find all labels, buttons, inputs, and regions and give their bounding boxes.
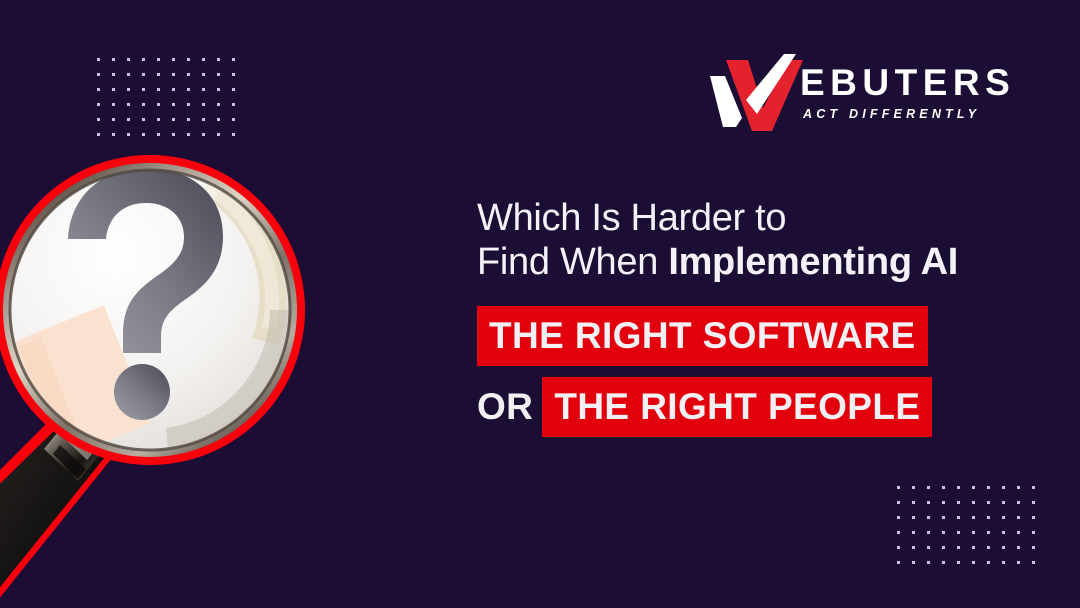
decorative-dot [157,88,160,91]
decorative-dot [912,486,915,489]
decorative-dot [97,133,100,136]
decorative-dot [942,516,945,519]
decorative-dot [972,531,975,534]
decorative-dot [1032,531,1035,534]
decorative-dot [1017,486,1020,489]
headline-line-1: Which Is Harder to [477,196,1037,240]
decorative-dot [112,73,115,76]
decorative-dot [157,73,160,76]
decorative-dot [1002,561,1005,564]
decorative-dot [172,103,175,106]
decorative-dot [1017,501,1020,504]
decorative-dot [957,486,960,489]
decorative-dot [142,133,145,136]
decorative-dot [127,58,130,61]
magnifying-glass-illustration [0,140,460,608]
decorative-dot [202,73,205,76]
decorative-dot [202,133,205,136]
decorative-dot [112,58,115,61]
emphasis-row-1: THE RIGHT SOFTWARE [477,306,1037,366]
decorative-dot [157,103,160,106]
decorative-dot [187,103,190,106]
decorative-dot [942,531,945,534]
emphasis-or-word: OR [477,377,542,437]
decorative-dot [112,103,115,106]
decorative-dot [97,103,100,106]
headline-line-2-bold: Implementing AI [668,241,958,283]
decorative-dot [187,73,190,76]
decorative-dot [987,546,990,549]
decorative-dot [187,88,190,91]
decorative-dot [1017,516,1020,519]
decorative-dot [912,561,915,564]
decorative-dot [897,531,900,534]
decorative-dot [202,103,205,106]
emphasis-pill-software: THE RIGHT SOFTWARE [477,306,928,366]
decorative-dot-grid-bottom-right [897,486,1035,564]
decorative-dot [232,103,235,106]
decorative-dot [157,118,160,121]
decorative-dot [1032,546,1035,549]
logo-tagline: ACT DIFFERENTLY [803,108,1015,121]
decorative-dot [912,516,915,519]
decorative-dot [897,501,900,504]
decorative-dot [202,118,205,121]
decorative-dot [142,73,145,76]
decorative-dot [202,58,205,61]
decorative-dot [112,88,115,91]
decorative-dot [232,58,235,61]
decorative-dot [232,73,235,76]
decorative-dot [987,561,990,564]
logo-brand-name: EBUTERS [800,64,1015,101]
decorative-dot [187,133,190,136]
decorative-dot [972,486,975,489]
decorative-dot [127,133,130,136]
decorative-dot [187,118,190,121]
headline-block: Which Is Harder to Find When Implementin… [477,196,1037,437]
decorative-dot [187,58,190,61]
decorative-dot [927,501,930,504]
decorative-dot [142,103,145,106]
brand-logo[interactable]: EBUTERS ACT DIFFERENTLY [700,52,1015,134]
decorative-dot [142,88,145,91]
v-checkmark-logo-icon [700,52,804,134]
decorative-dot [232,88,235,91]
decorative-dot [912,546,915,549]
decorative-dot [217,88,220,91]
decorative-dot [957,561,960,564]
decorative-dot [1002,486,1005,489]
decorative-dot [97,73,100,76]
decorative-dot [1032,486,1035,489]
decorative-dot [1032,501,1035,504]
decorative-dot [172,58,175,61]
decorative-dot [987,516,990,519]
decorative-dot [172,133,175,136]
decorative-dot [987,531,990,534]
decorative-dot [927,546,930,549]
decorative-dot [97,88,100,91]
decorative-dot [942,561,945,564]
decorative-dot [942,501,945,504]
decorative-dot [217,58,220,61]
decorative-dot [217,73,220,76]
decorative-dot [972,501,975,504]
emphasis-pill-people: THE RIGHT PEOPLE [542,377,932,437]
decorative-dot [157,133,160,136]
decorative-dot [157,58,160,61]
banner-canvas: EBUTERS ACT DIFFERENTLY Which Is Harder … [0,0,1080,608]
decorative-dot [912,501,915,504]
decorative-dot [127,118,130,121]
decorative-dot [1017,531,1020,534]
decorative-dot [942,546,945,549]
decorative-dot [957,501,960,504]
decorative-dot [217,118,220,121]
decorative-dot [987,501,990,504]
decorative-dot [97,118,100,121]
decorative-dot [897,486,900,489]
decorative-dot [112,133,115,136]
decorative-dot [1032,516,1035,519]
decorative-dot [1032,561,1035,564]
decorative-dot [1017,561,1020,564]
decorative-dot [927,531,930,534]
decorative-dot [217,133,220,136]
decorative-dot [172,88,175,91]
decorative-dot [972,516,975,519]
decorative-dot [987,486,990,489]
emphasis-row-2: OR THE RIGHT PEOPLE [477,377,1037,437]
decorative-dot [1002,501,1005,504]
decorative-dot [127,73,130,76]
decorative-dot [127,88,130,91]
decorative-dot [897,561,900,564]
decorative-dot [897,546,900,549]
decorative-dot [1017,546,1020,549]
headline-line-2-regular: Find When [477,241,668,283]
decorative-dot [957,516,960,519]
decorative-dot-grid-top-left [97,58,235,136]
decorative-dot [912,531,915,534]
decorative-dot [127,103,130,106]
headline-line-2: Find When Implementing AI [477,240,1037,284]
decorative-dot [232,133,235,136]
decorative-dot [1002,531,1005,534]
decorative-dot [942,486,945,489]
decorative-dot [957,531,960,534]
decorative-dot [202,88,205,91]
decorative-dot [1002,516,1005,519]
decorative-dot [142,58,145,61]
logo-wordmark: EBUTERS ACT DIFFERENTLY [800,64,1015,123]
decorative-dot [927,516,930,519]
decorative-dot [172,73,175,76]
decorative-dot [232,118,235,121]
decorative-dot [112,118,115,121]
decorative-dot [972,561,975,564]
decorative-dot [927,561,930,564]
decorative-dot [972,546,975,549]
decorative-dot [142,118,145,121]
decorative-dot [1002,546,1005,549]
decorative-dot [957,546,960,549]
decorative-dot [897,516,900,519]
decorative-dot [97,58,100,61]
decorative-dot [172,118,175,121]
decorative-dot [927,486,930,489]
decorative-dot [217,103,220,106]
